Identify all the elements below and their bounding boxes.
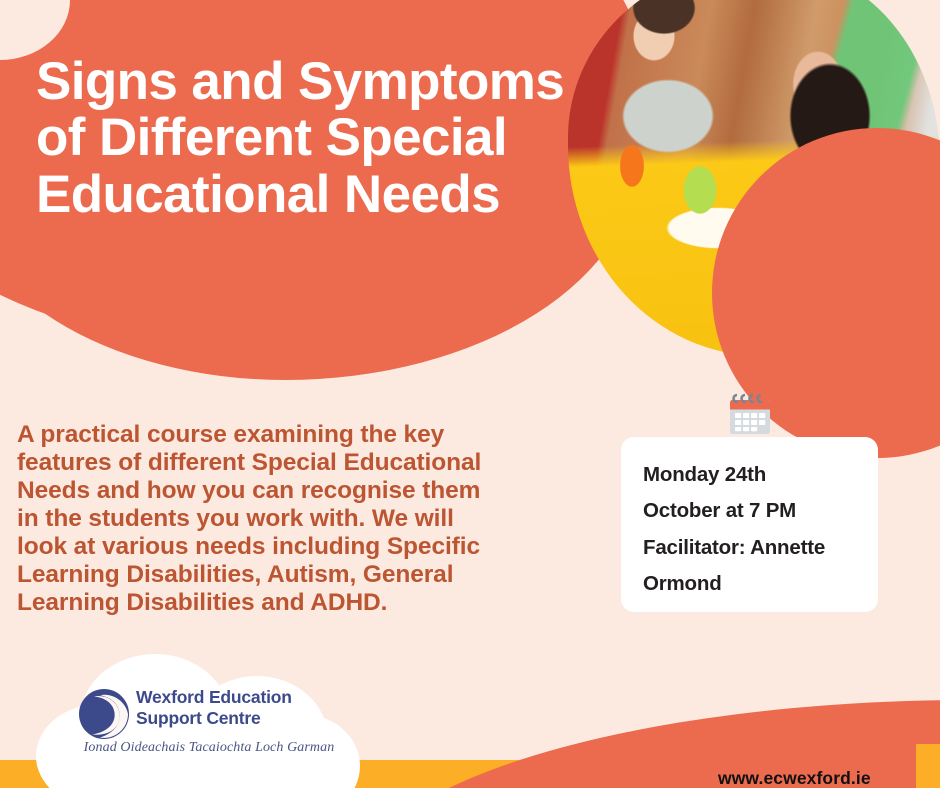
poster-canvas: Signs and Symptoms of Different Special … (0, 0, 940, 788)
organisation-name-irish: Ionad Oideachais Tacaiochta Loch Garman (80, 740, 338, 756)
event-date-line-1: Monday 24th (643, 457, 856, 493)
organisation-name: Wexford Education Support Centre (136, 687, 292, 728)
crescent-circle-logo-icon (78, 688, 130, 740)
facilitator-line-2: Ormond (643, 566, 856, 602)
facilitator-line-1: Facilitator: Annette (643, 530, 856, 566)
page-title: Signs and Symptoms of Different Special … (36, 54, 596, 224)
yellow-right-edge-strip (916, 744, 940, 788)
organisation-logo: Wexford Education Support Centre Ionad O… (78, 686, 340, 764)
website-url: www.ecwexford.ie (718, 768, 871, 788)
event-details-card: Monday 24th October at 7 PM Facilitator:… (621, 437, 878, 612)
organisation-name-line-2: Support Centre (136, 708, 292, 729)
event-date-line-2: October at 7 PM (643, 493, 856, 529)
organisation-name-line-1: Wexford Education (136, 687, 292, 708)
calendar-icon (726, 392, 774, 438)
course-description: A practical course examining the key fea… (17, 421, 487, 617)
